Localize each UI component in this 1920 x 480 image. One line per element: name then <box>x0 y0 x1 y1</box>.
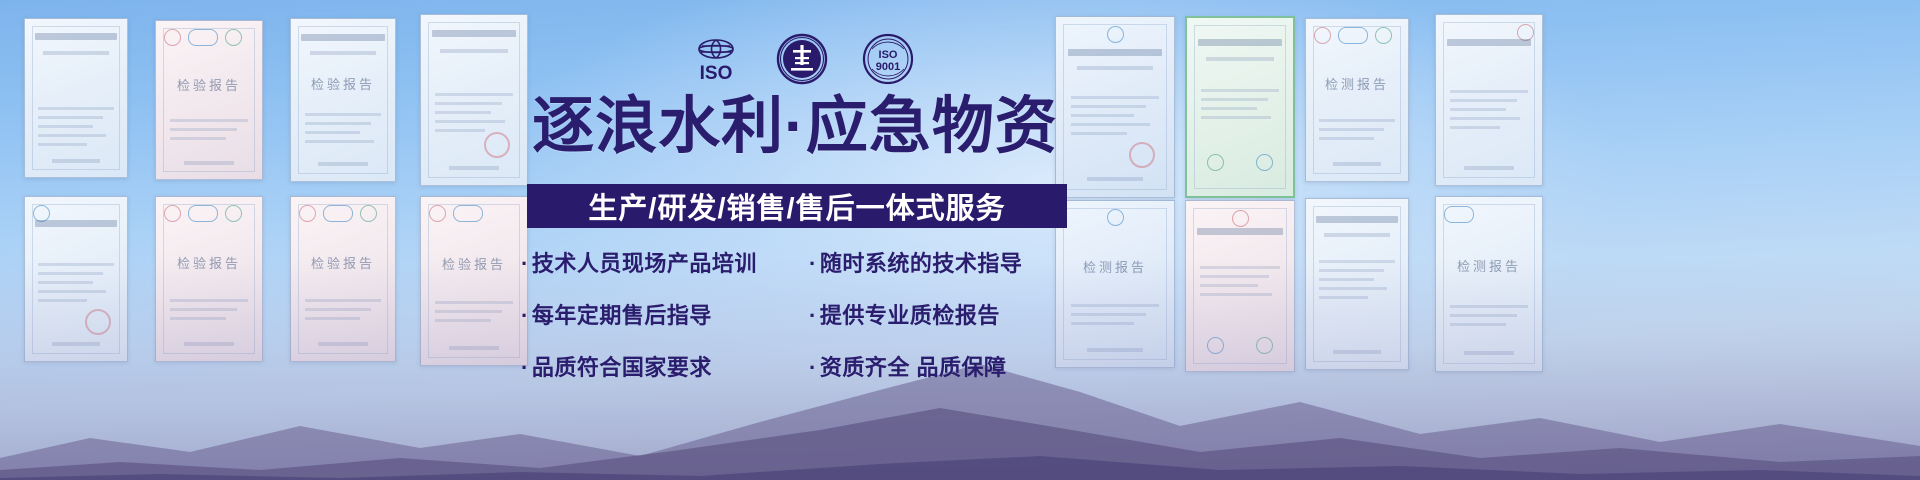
svg-text:9001: 9001 <box>876 61 900 73</box>
certificate-thumb: 检测报告 <box>1305 18 1409 182</box>
certificate-label: 检验报告 <box>156 75 262 94</box>
feature-item: · 每年定期售后指导 <box>521 298 809 330</box>
feature-label: 技术人员现场产品培训 <box>532 246 757 278</box>
feature-label: 资质齐全 品质保障 <box>820 350 1007 382</box>
subtitle-text: 生产/研发/销售/售后一体式服务 <box>588 185 1005 227</box>
bullet-dot: · <box>809 303 817 329</box>
feature-item: · 提供专业质检报告 <box>809 298 1073 330</box>
bullet-dot: · <box>809 251 817 277</box>
feature-item: · 资质齐全 品质保障 <box>809 350 1073 382</box>
feature-item: · 技术人员现场产品培训 <box>521 246 809 278</box>
feature-label: 每年定期售后指导 <box>532 298 712 330</box>
feature-label: 随时系统的技术指导 <box>820 246 1023 278</box>
certificate-thumb <box>1185 16 1295 198</box>
feature-list: · 技术人员现场产品培训 · 随时系统的技术指导 · 每年定期售后指导 · 提供… <box>521 246 1073 382</box>
feature-label: 提供专业质检报告 <box>820 298 1000 330</box>
banner-content: ISO <box>505 0 1085 480</box>
svg-text:ISO: ISO <box>700 63 733 84</box>
feature-item: · 随时系统的技术指导 <box>809 246 1073 278</box>
certificate-thumb: 检验报告 <box>155 20 263 180</box>
page-title: 逐浪水利·应急物资 <box>505 95 1085 158</box>
certificate-thumb: 检验报告 <box>290 18 396 182</box>
iso-globe-icon: ISO <box>690 33 742 85</box>
subtitle-banner: 生产/研发/销售/售后一体式服务 <box>527 184 1067 228</box>
bullet-dot: · <box>521 355 529 381</box>
bullet-dot: · <box>809 355 817 381</box>
certificate-thumb <box>24 18 128 178</box>
iso-9001-cqc-icon: ISO 9001 <box>862 33 914 85</box>
bullet-dot: · <box>521 303 529 329</box>
feature-row: · 每年定期售后指导 · 提供专业质检报告 <box>521 298 1073 330</box>
svg-text:ISO: ISO <box>879 49 898 61</box>
promo-banner: 检验报告 检验报告 <box>0 0 1920 480</box>
feature-row: · 技术人员现场产品培训 · 随时系统的技术指导 <box>521 246 1073 278</box>
circular-seal-icon <box>776 33 828 85</box>
certificate-label: 检测报告 <box>1306 74 1408 93</box>
feature-label: 品质符合国家要求 <box>532 350 712 382</box>
certification-badges: ISO <box>690 33 914 85</box>
certificate-thumb <box>1435 14 1543 186</box>
feature-row: · 品质符合国家要求 · 资质齐全 品质保障 <box>521 350 1073 382</box>
feature-item: · 品质符合国家要求 <box>521 350 809 382</box>
bullet-dot: · <box>521 251 529 277</box>
certificate-label: 检验报告 <box>291 74 395 93</box>
